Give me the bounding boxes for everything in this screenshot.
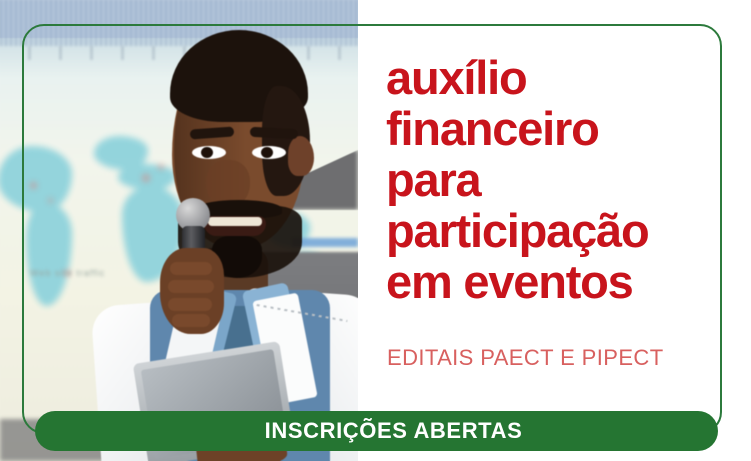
mouth <box>204 216 266 236</box>
eye-right <box>252 146 286 159</box>
registration-open-banner[interactable]: INSCRIÇÕES ABERTAS <box>35 411 718 451</box>
headline: auxílio financeiro para participação em … <box>386 52 736 307</box>
headline-line-2: financeiro <box>386 103 736 154</box>
subtitle: EDITAIS PAECT E PIPECT <box>387 345 664 371</box>
headline-line-1: auxílio <box>386 52 736 103</box>
speaker-figure <box>0 0 358 461</box>
headline-line-4: participação <box>386 205 736 256</box>
headline-line-3: para <box>386 154 736 205</box>
speaker-photo: Web site traffic <box>0 0 358 461</box>
headline-line-5: em eventos <box>386 256 736 307</box>
eye-left <box>192 146 226 159</box>
text-panel: auxílio financeiro para participação em … <box>358 0 751 461</box>
promotional-banner: Web site traffic <box>0 0 751 461</box>
registration-open-label: INSCRIÇÕES ABERTAS <box>35 418 751 444</box>
hand-holding-microphone <box>160 248 224 334</box>
ear <box>288 136 314 176</box>
